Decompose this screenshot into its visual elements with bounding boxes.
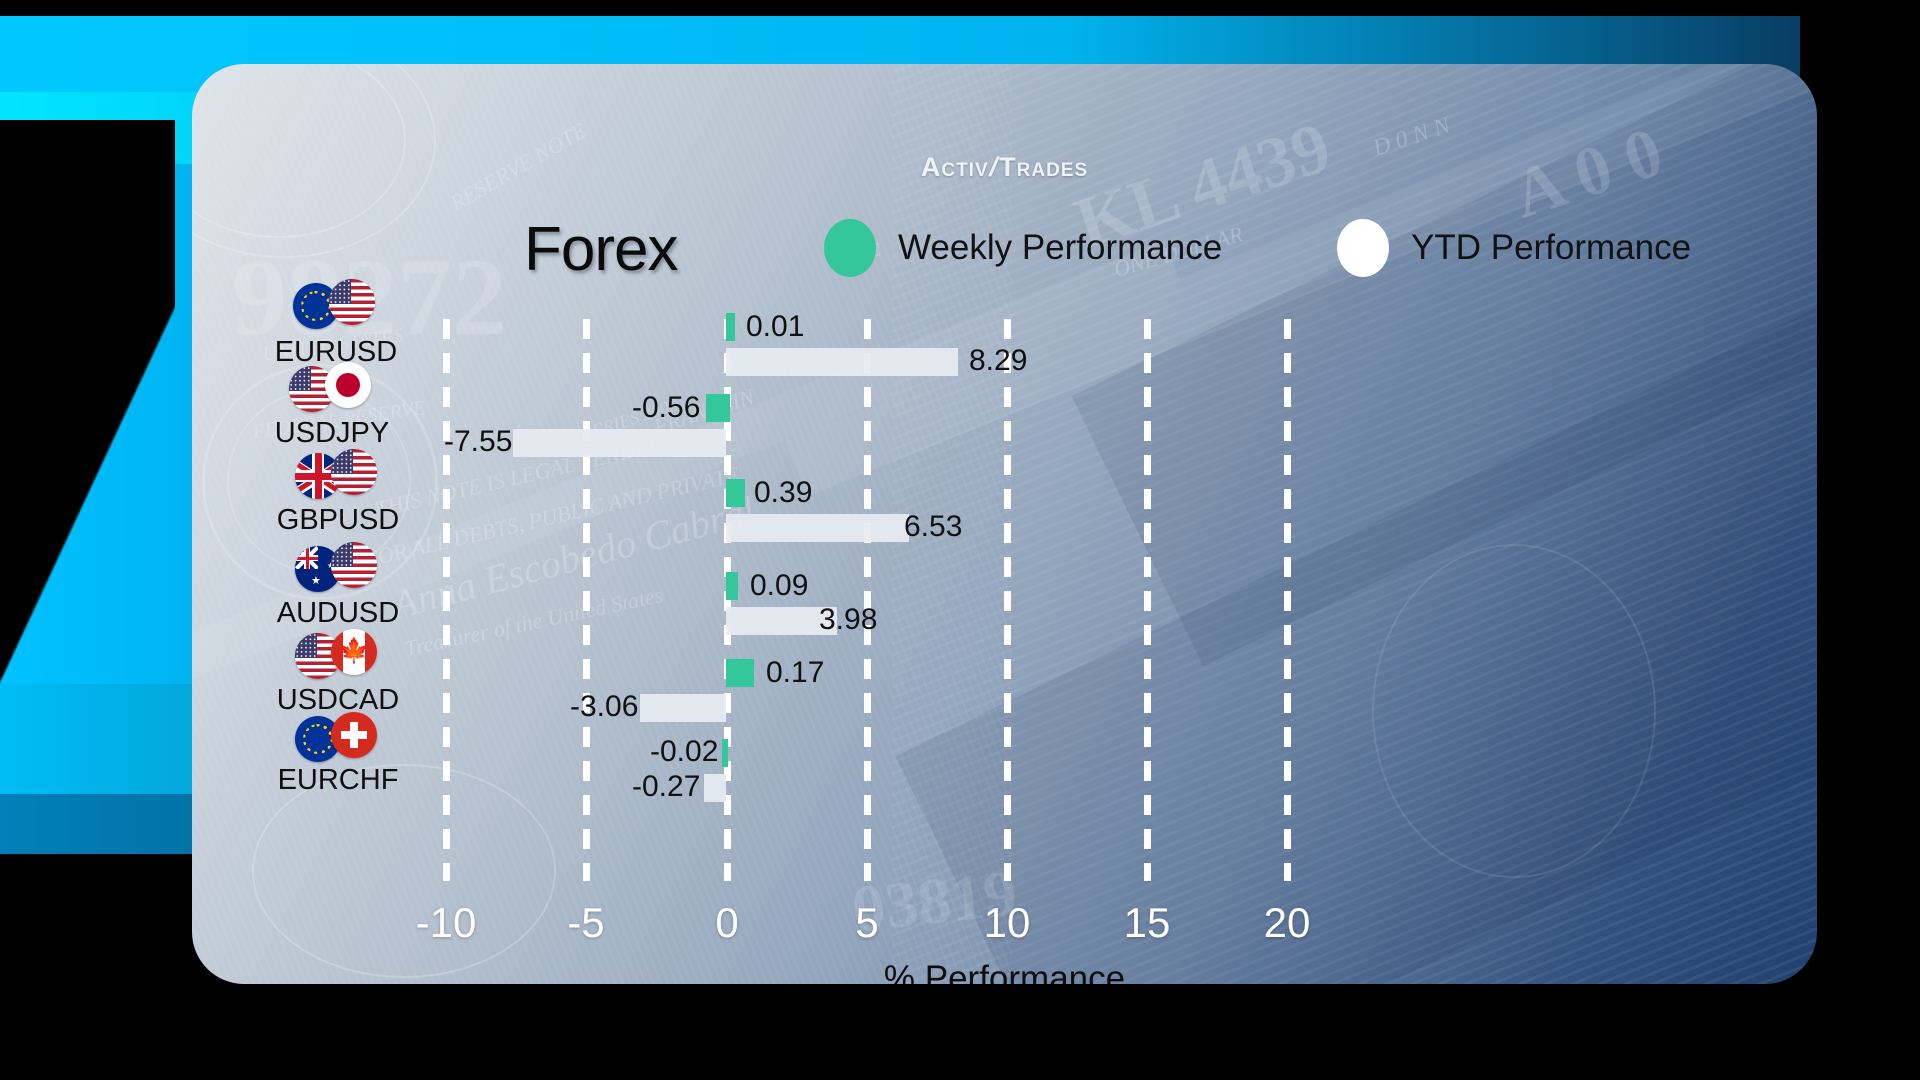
- background-wedge: [0, 120, 175, 820]
- chart-plot-area: EURUSD 0.01 8.29 USDJPY -0.56 -7.55: [192, 64, 1817, 984]
- bar-weekly-eurusd[interactable]: [726, 313, 735, 341]
- x-tick-0: 0: [715, 899, 738, 947]
- flag-us-icon: [331, 542, 377, 588]
- bar-ytd-eurchf[interactable]: [704, 774, 726, 802]
- bar-value-weekly-usdjpy: -0.56: [632, 394, 700, 422]
- background-mask: [1800, 0, 1920, 1080]
- flag-us-icon: [329, 279, 375, 325]
- flag-pair-eurusd: [293, 279, 379, 327]
- bar-value-ytd-eurusd: 8.29: [969, 347, 1027, 375]
- bar-value-weekly-audusd: 0.09: [750, 572, 808, 600]
- bar-weekly-audusd[interactable]: [726, 572, 738, 600]
- x-tick-20: 20: [1264, 899, 1311, 947]
- flag-ca-icon: 🍁: [331, 629, 377, 675]
- x-tick-neg10: -10: [416, 899, 477, 947]
- bar-value-ytd-usdjpy: -7.55: [444, 428, 512, 456]
- gridline: [583, 319, 590, 881]
- bar-value-weekly-eurchf: -0.02: [650, 738, 718, 766]
- bar-weekly-gbpusd[interactable]: [726, 479, 745, 507]
- flag-pair-usdjpy: [289, 362, 375, 410]
- bar-value-weekly-gbpusd: 0.39: [754, 479, 812, 507]
- bar-weekly-usdjpy[interactable]: [706, 394, 730, 422]
- chart-card: 98272 KL 4439 A 0 0 03819 Anna Escobedo …: [192, 64, 1817, 984]
- background-mask: [0, 0, 1920, 16]
- bar-ytd-gbpusd[interactable]: [726, 514, 909, 542]
- bar-ytd-eurusd[interactable]: [726, 348, 958, 376]
- bar-weekly-usdcad[interactable]: [726, 659, 754, 687]
- flag-pair-usdcad: 🍁: [295, 629, 381, 677]
- flag-jp-icon: [325, 362, 371, 408]
- bar-value-ytd-gbpusd: 6.53: [904, 513, 962, 541]
- gridline: [1144, 319, 1151, 881]
- gridline: [443, 319, 450, 881]
- x-tick-10: 10: [984, 899, 1031, 947]
- gridline: [1004, 319, 1011, 881]
- flag-pair-eurchf: [295, 712, 381, 760]
- x-tick-15: 15: [1124, 899, 1171, 947]
- category-label-eurchf: EURCHF: [278, 764, 399, 797]
- flag-pair-gbpusd: [295, 449, 381, 497]
- flag-us-icon: [331, 449, 377, 495]
- bar-value-ytd-eurchf: -0.27: [632, 773, 700, 801]
- bar-value-ytd-audusd: 3.98: [819, 606, 877, 634]
- category-label-usdjpy: USDJPY: [275, 417, 389, 450]
- x-tick-5: 5: [855, 899, 878, 947]
- x-tick-neg5: -5: [567, 899, 604, 947]
- bar-weekly-eurchf[interactable]: [722, 739, 728, 767]
- bar-value-weekly-usdcad: 0.17: [766, 659, 824, 687]
- bar-ytd-usdjpy[interactable]: [513, 429, 726, 457]
- x-axis-title: % Performance: [192, 959, 1817, 984]
- bar-value-ytd-usdcad: -3.06: [570, 693, 638, 721]
- gridline: [1284, 319, 1291, 881]
- category-label-gbpusd: GBPUSD: [277, 504, 399, 537]
- bar-ytd-usdcad[interactable]: [640, 694, 726, 722]
- flag-ch-icon: [331, 712, 377, 758]
- gridline: [864, 319, 871, 881]
- screenshot-root: 98272 KL 4439 A 0 0 03819 Anna Escobedo …: [0, 0, 1920, 1080]
- bar-value-weekly-eurusd: 0.01: [746, 313, 804, 341]
- category-label-audusd: AUDUSD: [277, 597, 399, 630]
- flag-pair-audusd: ★ ★: [295, 542, 381, 590]
